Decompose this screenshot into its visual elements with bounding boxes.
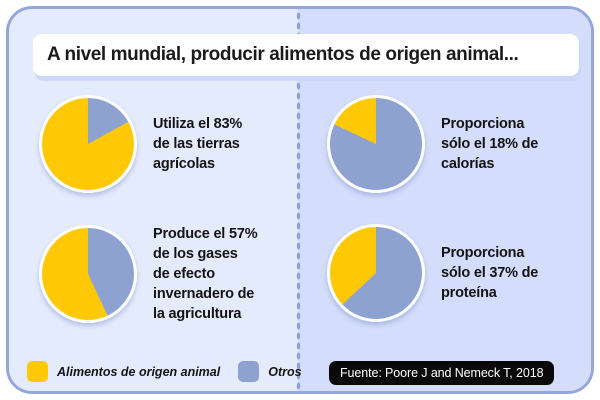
pie-chart-gases-efecto-invernadero [39,225,137,323]
stat-caption-tierras-agricolas: Utiliza el 83% de las tierras agrícolas [153,114,242,174]
legend: Alimentos de origen animal Otros [27,361,320,382]
pie-chart-calorias [327,95,425,193]
pie-chart-tierras-agricolas [39,95,137,193]
pie-chart-proteina [327,224,425,322]
pie-chart-gases-wrap [39,225,137,323]
legend-label-animal: Alimentos de origen animal [57,365,220,379]
legend-swatch-icon-otros [238,361,259,382]
stat-caption-gases-efecto-invernadero: Produce el 57% de los gases de efecto in… [153,224,257,324]
title-bar: A nivel mundial, producir alimentos de o… [33,34,579,76]
stat-gases-efecto-invernadero: Produce el 57% de los gases de efecto in… [39,224,257,324]
stat-caption-proteina: Proporciona sólo el 37% de proteína [441,243,538,303]
pie-chart-calorias-wrap [327,95,425,193]
source-label: Fuente: Poore J and Nemeck T, 2018 [340,366,543,380]
stat-caption-calorias: Proporciona sólo el 18% de calorías [441,114,538,174]
stat-tierras-agricolas: Utiliza el 83% de las tierras agrícolas [39,95,242,193]
pie-chart-tierras-agricolas-wrap [39,95,137,193]
source-badge: Fuente: Poore J and Nemeck T, 2018 [329,361,554,385]
stat-proteina: Proporciona sólo el 37% de proteína [327,224,538,322]
legend-swatch-icon-animal [27,361,48,382]
infographic-card: A nivel mundial, producir alimentos de o… [6,6,594,394]
legend-item-alimentos-origen-animal: Alimentos de origen animal [27,361,220,382]
page-title: A nivel mundial, producir alimentos de o… [47,44,518,66]
stat-calorias: Proporciona sólo el 18% de calorías [327,95,538,193]
legend-item-otros: Otros [238,361,301,382]
pie-chart-proteina-wrap [327,224,425,322]
legend-label-otros: Otros [268,365,301,379]
